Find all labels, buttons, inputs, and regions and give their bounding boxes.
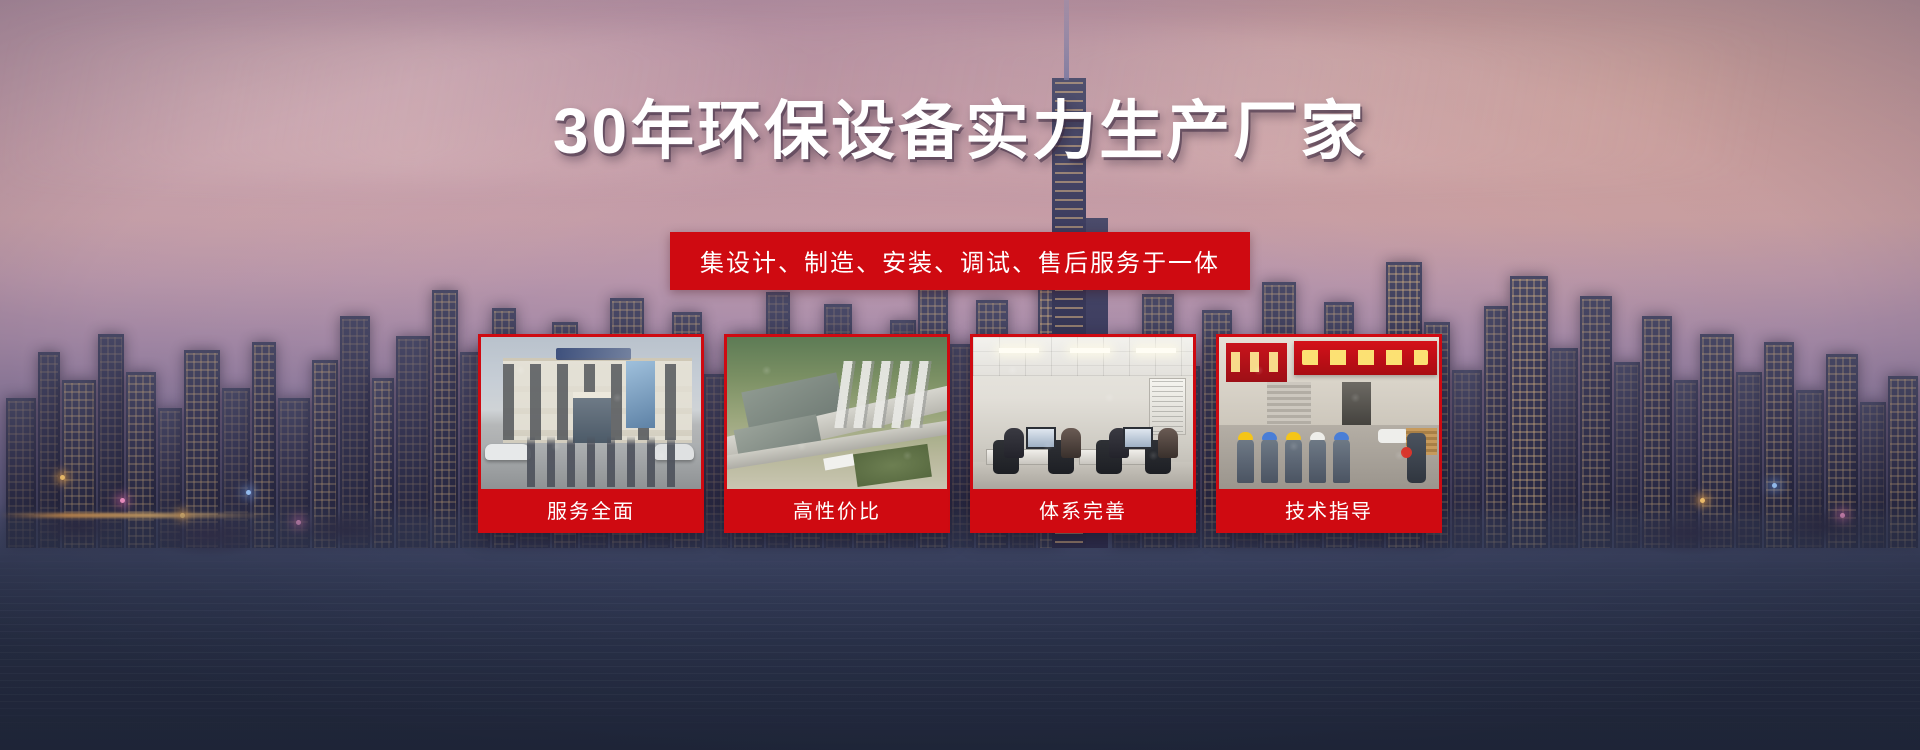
banner-headline: 30年环保设备实力生产厂家 — [553, 99, 1367, 163]
card-photo-office-building — [481, 337, 701, 489]
feature-card[interactable]: 体系完善 — [970, 334, 1196, 533]
card-caption: 体系完善 — [973, 489, 1193, 530]
banner-subtitle-bar: 集设计、制造、安装、调试、售后服务于一体 — [670, 232, 1250, 290]
banner-content: 30年环保设备实力生产厂家 集设计、制造、安装、调试、售后服务于一体 服务全 — [0, 0, 1920, 750]
card-photo-factory-floor — [1219, 337, 1439, 489]
feature-card[interactable]: 服务全面 — [478, 334, 704, 533]
hero-banner: 30年环保设备实力生产厂家 集设计、制造、安装、调试、售后服务于一体 服务全 — [0, 0, 1920, 750]
card-caption: 技术指导 — [1219, 489, 1439, 530]
card-caption: 服务全面 — [481, 489, 701, 530]
card-photo-aerial-plant — [727, 337, 947, 489]
card-caption: 高性价比 — [727, 489, 947, 530]
card-photo-office-interior — [973, 337, 1193, 489]
feature-card[interactable]: 高性价比 — [724, 334, 950, 533]
feature-card-row: 服务全面 高性价比 — [478, 334, 1442, 533]
feature-card[interactable]: 技术指导 — [1216, 334, 1442, 533]
